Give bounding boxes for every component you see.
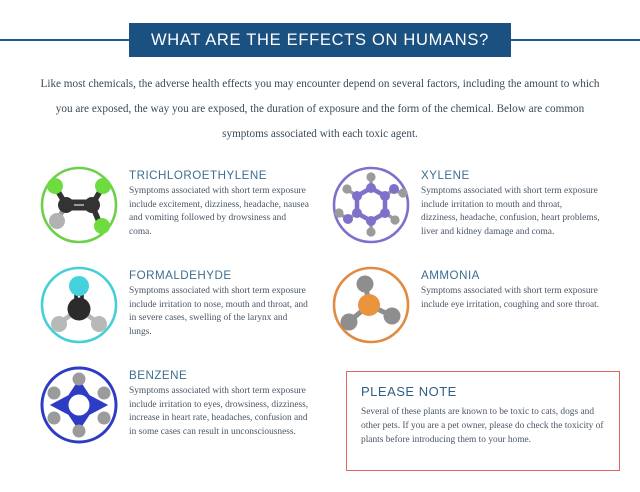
chemical-description: Symptoms associated with short term expo…: [129, 385, 309, 439]
chemical-name: AMMONIA: [421, 269, 640, 282]
banner-rule-left: [0, 39, 129, 41]
chemical-text: XYLENE Symptoms associated with short te…: [414, 162, 640, 239]
chemical-row: FORMALDEHYDE Symptoms associated with sh…: [0, 262, 640, 362]
benzene-molecule-icon: [36, 362, 122, 448]
chemical-description: Symptoms associated with short term expo…: [129, 285, 309, 339]
chemical-description: Symptoms associated with short term expo…: [129, 185, 309, 239]
chemical-name: BENZENE: [129, 369, 320, 382]
chemical-text: TRICHLOROETHYLENE Symptoms associated wi…: [122, 162, 320, 239]
ammonia-molecule-icon: [328, 262, 414, 348]
infographic-page: WHAT ARE THE EFFECTS ON HUMANS? Like mos…: [0, 0, 640, 492]
page-title: WHAT ARE THE EFFECTS ON HUMANS?: [151, 31, 489, 50]
banner-rule-right: [511, 39, 640, 41]
chemical-item-ammonia: AMMONIA Symptoms associated with short t…: [320, 262, 640, 362]
note-title: PLEASE NOTE: [361, 384, 605, 399]
banner-box: WHAT ARE THE EFFECTS ON HUMANS?: [129, 23, 511, 57]
xylene-molecule-icon: [328, 162, 414, 248]
chemical-item-formaldehyde: FORMALDEHYDE Symptoms associated with sh…: [0, 262, 320, 362]
chemical-name: FORMALDEHYDE: [129, 269, 320, 282]
chemical-name: XYLENE: [421, 169, 640, 182]
trichloroethylene-molecule-icon: [36, 162, 122, 248]
chemical-description: Symptoms associated with short term expo…: [421, 285, 601, 312]
chemical-item-trichloroethylene: TRICHLOROETHYLENE Symptoms associated wi…: [0, 162, 320, 262]
formaldehyde-molecule-icon: [36, 262, 122, 348]
chemical-description: Symptoms associated with short term expo…: [421, 185, 601, 239]
chemical-item-benzene: BENZENE Symptoms associated with short t…: [0, 362, 320, 467]
note-text: Several of these plants are known to be …: [361, 405, 605, 447]
intro-paragraph: Like most chemicals, the adverse health …: [34, 72, 606, 147]
chemical-name: TRICHLOROETHYLENE: [129, 169, 320, 182]
chemical-item-xylene: XYLENE Symptoms associated with short te…: [320, 162, 640, 262]
chemical-row: TRICHLOROETHYLENE Symptoms associated wi…: [0, 162, 640, 262]
chemical-text: BENZENE Symptoms associated with short t…: [122, 362, 320, 439]
title-banner: WHAT ARE THE EFFECTS ON HUMANS?: [0, 23, 640, 57]
chemical-text: AMMONIA Symptoms associated with short t…: [414, 262, 640, 312]
chemical-text: FORMALDEHYDE Symptoms associated with sh…: [122, 262, 320, 339]
please-note-box: PLEASE NOTE Several of these plants are …: [346, 371, 620, 471]
